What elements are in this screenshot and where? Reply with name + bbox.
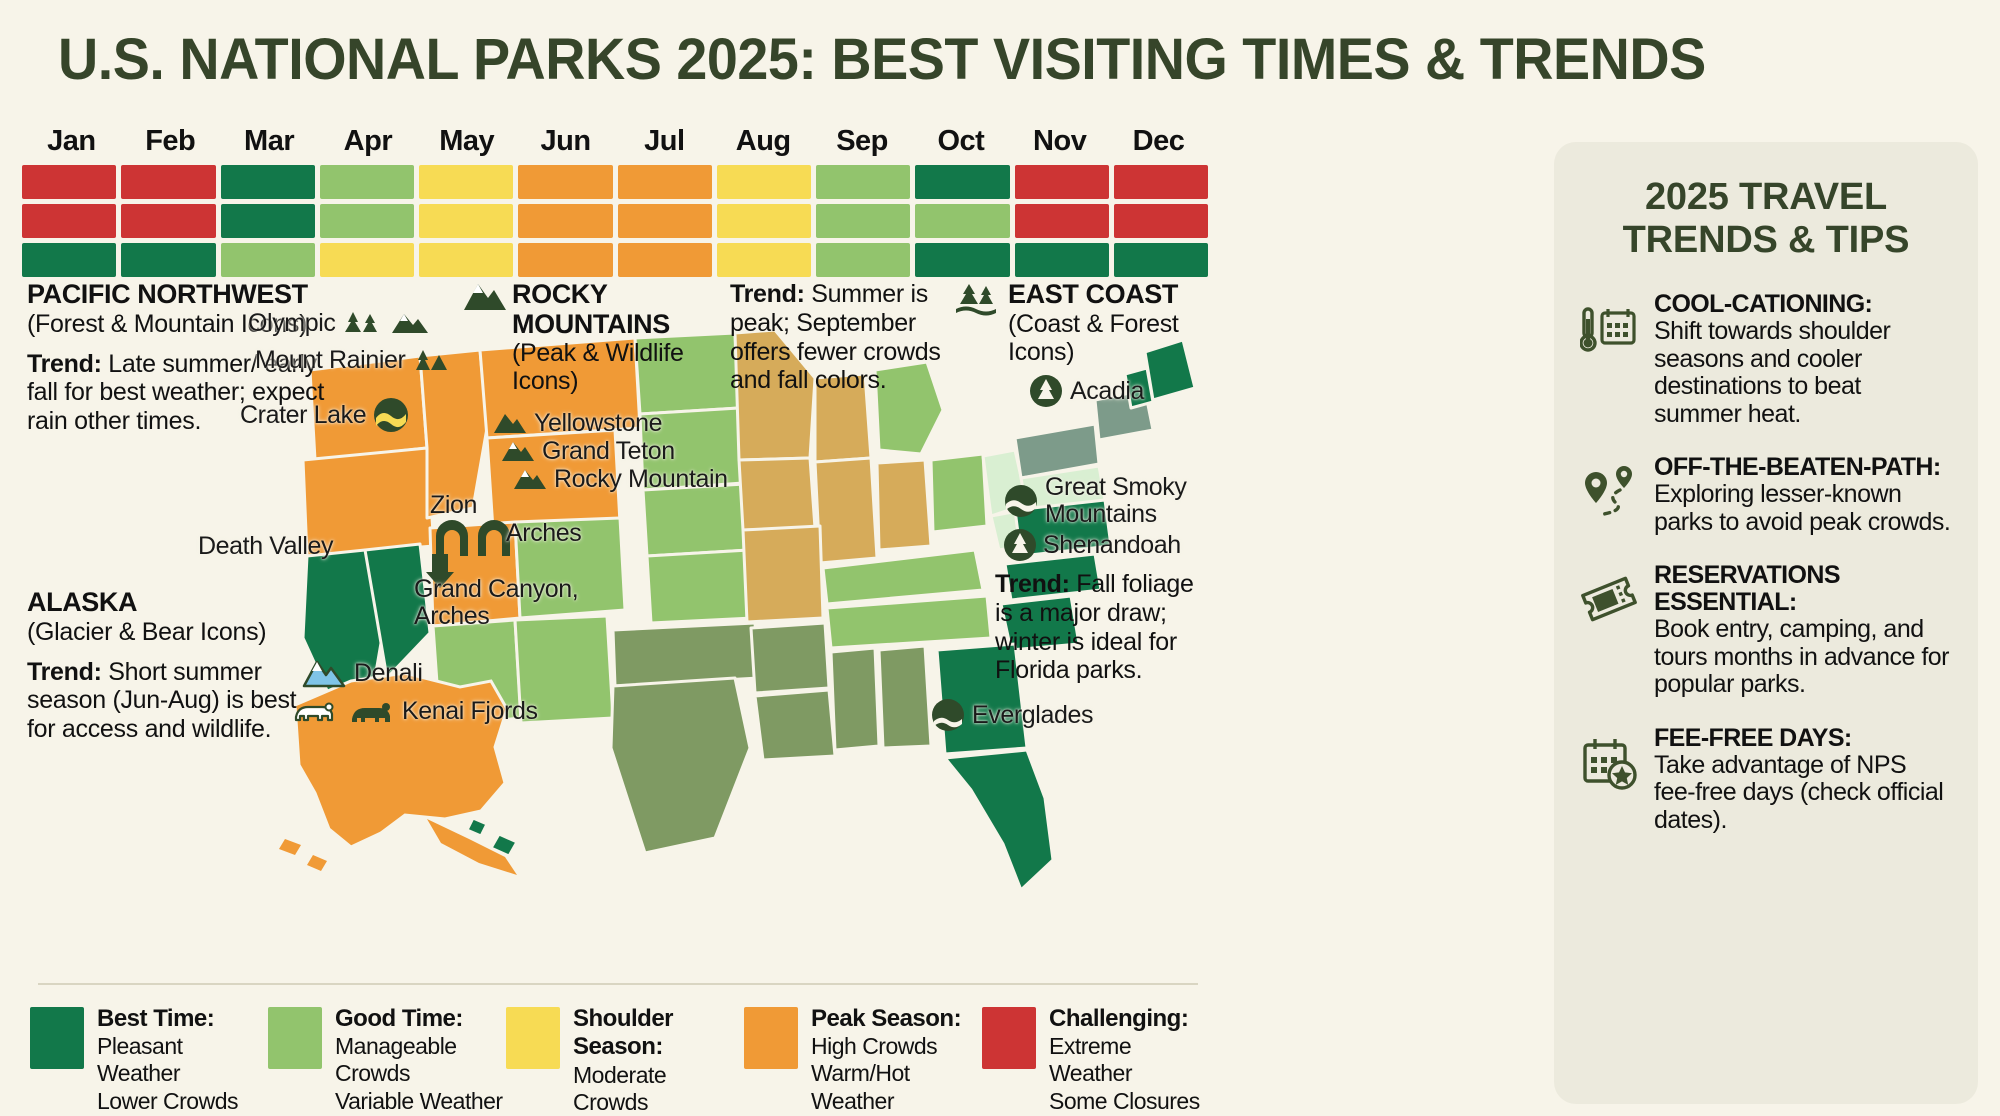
heatmap-cell-jul-1[interactable] [618,165,712,199]
heatmap-cell-sep-2[interactable] [816,204,910,238]
sidebar-tip-body: RESERVATIONS ESSENTIAL:Book entry, campi… [1654,562,1952,699]
region-icons-note: (Coast & Forest Icons) [1008,310,1218,366]
mountain-icon [389,306,431,340]
heatmap-row-1 [22,165,1208,199]
region-alaska: ALASKA (Glacier & Bear Icons) Trend: Sho… [27,588,297,744]
trends-sidebar: 2025 TRAVEL TRENDS & TIPS COOL-CATIONING… [1554,142,1978,1104]
state-texas [611,678,750,853]
legend-line: Warm/Hot Weather [811,1060,982,1114]
mountain-peak-icon [462,276,508,314]
park-label-rocky-mountain: Rocky Mountain [512,464,728,494]
park-name: Zion [430,492,477,519]
park-name: Crater Lake [240,402,366,429]
heatmap-cell-nov-1[interactable] [1015,165,1109,199]
legend-items: Best Time:Pleasant WeatherLower CrowdsGo… [30,1005,1220,1116]
park-name: Shenandoah [1043,532,1181,559]
heatmap-cell-feb-2[interactable] [121,204,215,238]
heatmap-cell-jan-1[interactable] [22,165,116,199]
region-title: ROCKY MOUNTAINS [512,280,727,339]
park-label-mount-rainier: Mount Rainier [255,343,451,377]
region-title: ALASKA [27,588,297,618]
sidebar-tip: COOL-CATIONING:Shift towards shoulder se… [1580,291,1952,428]
legend-line: Variable Weather [335,1088,506,1115]
region-rocky-trend: Trend: Summer is peak; September offers … [730,280,960,395]
park-name: Acadia [1070,378,1144,405]
sidebar-tip: RESERVATIONS ESSENTIAL:Book entry, campi… [1580,562,1952,699]
smoky-mountain-icon [1003,484,1039,518]
legend-text: Good Time:Manageable CrowdsVariable Weat… [335,1005,506,1115]
sidebar-tip-heading: RESERVATIONS ESSENTIAL: [1654,562,1952,616]
thermometer-calendar-icon [1580,299,1638,357]
sidebar-tip-description: Book entry, camping, and tours months in… [1654,616,1952,699]
heatmap-cell-aug-1[interactable] [717,165,811,199]
legend-line: Some Closures [1049,1088,1220,1115]
park-label-arches: Arches [506,520,581,547]
legend-text: Challenging:Extreme WeatherSome Closures… [1049,1005,1220,1116]
legend: Best Time:Pleasant WeatherLower CrowdsGo… [30,1005,1220,1105]
heatmap-cell-jun-2[interactable] [518,204,612,238]
trend-label: Trend: [995,570,1070,598]
map-pin-route-icon [1580,462,1638,520]
legend-text: Shoulder Season:Moderate CrowdsTransitti… [573,1005,744,1116]
legend-item: Good Time:Manageable CrowdsVariable Weat… [268,1005,506,1116]
legend-swatch [744,1007,798,1069]
legend-item: Challenging:Extreme WeatherSome Closures… [982,1005,1220,1116]
park-label-shenandoah: Shenandoah [1003,528,1181,562]
park-name: Kenai Fjords [402,698,538,725]
park-label-kenai-fjords: Kenai Fjords [290,693,538,729]
heatmap-cell-may-2[interactable] [419,204,513,238]
month-label-may: May [417,125,516,165]
legend-line: Pleasant Weather [97,1033,268,1087]
park-name: Death Valley [198,533,333,560]
park-label-denali: Denali [300,653,422,693]
park-name: Grand Teton [542,438,675,465]
state-illinois [815,458,877,563]
region-title: EAST COAST [1008,280,1218,310]
park-label-grand-canyon: Grand Canyon, Arches [414,576,594,630]
heatmap-cell-oct-2[interactable] [915,204,1009,238]
sidebar-title: 2025 TRAVEL TRENDS & TIPS [1580,176,1952,261]
region-east-coast: EAST COAST (Coast & Forest Icons) [1008,280,1218,366]
heatmap-cell-dec-1[interactable] [1114,165,1208,199]
region-trend: Trend: Fall foliage is a major draw; win… [995,570,1210,685]
park-label-grand-teton: Grand Teton [500,436,675,466]
coast-forest-icon [952,276,1000,316]
map-area: PACIFIC NORTHWEST (Forest & Mountain Ico… [0,268,1230,988]
trend-label: Trend: [27,350,102,378]
park-label-everglades: Everglades [930,698,1093,732]
legend-swatch [982,1007,1036,1069]
legend-heading: Challenging: [1049,1005,1220,1033]
legend-heading: Best Time: [97,1005,268,1033]
state-kansas [647,550,753,623]
month-label-jul: Jul [615,125,714,165]
month-label-jan: Jan [22,125,121,165]
heatmap-row-2 [22,204,1208,238]
legend-heading: Peak Season: [811,1005,982,1033]
peak-icon [512,464,548,494]
state-alabama [879,646,931,748]
region-trend: Trend: Short summer season (Jun-Aug) is … [27,658,297,744]
heatmap-cell-apr-2[interactable] [320,204,414,238]
park-label-crater-lake: Crater Lake [240,396,410,434]
legend-text: Best Time:Pleasant WeatherLower Crowds [97,1005,268,1115]
glacier-icon [300,653,348,693]
forest-mountain-icon [411,343,451,377]
month-label-nov: Nov [1010,125,1109,165]
state-nebraska [643,484,749,556]
trend-label: Trend: [730,280,805,308]
tree-circle-icon [1003,528,1037,562]
heatmap-cell-may-1[interactable] [419,165,513,199]
state-florida [945,750,1053,890]
sidebar-title-line1: 2025 TRAVEL [1580,176,1952,219]
region-icons-note: (Peak & Wildlife Icons) [512,339,727,395]
sidebar-tip-description: Shift towards shoulder seasons and coole… [1654,318,1952,428]
month-label-jun: Jun [516,125,615,165]
heatmap-cell-feb-1[interactable] [121,165,215,199]
legend-item: Peak Season:High CrowdsWarm/Hot Weather [744,1005,982,1116]
region-rocky-mountains: ROCKY MOUNTAINS (Peak & Wildlife Icons) [512,280,727,395]
tree-circle-icon [1028,374,1064,408]
sidebar-tip: FEE-FREE DAYS:Take advantage of NPS fee-… [1580,725,1952,835]
heatmap-cell-aug-2[interactable] [717,204,811,238]
forest-icon [341,306,383,340]
sidebar-tip: OFF-THE-BEATEN-PATH:Exploring lesser-kno… [1580,454,1952,536]
legend-item: Best Time:Pleasant WeatherLower Crowds [30,1005,268,1116]
legend-swatch [30,1007,84,1069]
park-name: Olympic [248,310,335,337]
legend-line: Lower Crowds [97,1088,268,1115]
legend-line: Manageable Crowds [335,1033,506,1087]
peak-icon [500,436,536,466]
park-name: Yellowstone [534,410,662,437]
heatmap-cell-mar-2[interactable] [221,204,315,238]
ticket-icon [1580,570,1638,628]
state-louisiana [755,690,835,760]
legend-line: Extreme Weather [1049,1033,1220,1087]
sidebar-tip-description: Take advantage of NPS fee-free days (che… [1654,752,1952,835]
month-label-row: JanFebMarAprMayJunJulAugSepOctNovDec [22,125,1208,165]
state-ohio [931,454,987,532]
legend-divider [38,983,1198,985]
park-label-acadia: Acadia [1028,374,1144,408]
month-label-apr: Apr [318,125,417,165]
sidebar-title-line2: TRENDS & TIPS [1580,219,1952,262]
park-name: Rocky Mountain [554,466,728,493]
legend-item: Shoulder Season:Moderate CrowdsTransitti… [506,1005,744,1116]
month-label-aug: Aug [714,125,813,165]
park-label-yellowstone: Yellowstone [492,408,662,438]
legend-text: Peak Season:High CrowdsWarm/Hot Weather [811,1005,982,1115]
heatmap-cell-jan-2[interactable] [22,204,116,238]
state-iowa [739,458,815,530]
park-label-death-valley: Death Valley [198,533,333,560]
park-name: Mount Rainier [255,347,405,374]
park-label-great-smoky: Great Smoky Mountains [1003,474,1208,528]
heatmap-cell-jun-1[interactable] [518,165,612,199]
heatmap-cell-jul-2[interactable] [618,204,712,238]
heatmap-grid [22,165,1208,277]
region-icons-note: (Glacier & Bear Icons) [27,618,297,646]
region-east-trend: Trend: Fall foliage is a major draw; win… [995,570,1210,685]
state-missouri [743,526,823,622]
park-label-zion: Zion [430,492,477,519]
month-label-oct: Oct [911,125,1010,165]
park-name: Great Smoky Mountains [1045,474,1208,528]
legend-line: High Crowds [811,1033,982,1060]
state-oklahoma [613,623,759,686]
peak-icon [492,408,528,438]
polar-bear-icon [290,693,340,729]
calendar-star-icon [1580,733,1638,791]
month-label-mar: Mar [220,125,319,165]
sidebar-tip-heading: OFF-THE-BEATEN-PATH: [1654,454,1952,481]
infographic-root: U.S. NATIONAL PARKS 2025: BEST VISITING … [0,0,2000,1116]
state-indiana [877,460,931,550]
crater-lake-icon [372,396,410,434]
page-title: U.S. NATIONAL PARKS 2025: BEST VISITING … [58,26,1652,93]
sidebar-tips-list: COOL-CATIONING:Shift towards shoulder se… [1580,291,1952,834]
legend-heading: Good Time: [335,1005,506,1033]
heatmap-cell-dec-2[interactable] [1114,204,1208,238]
sidebar-tip-body: FEE-FREE DAYS:Take advantage of NPS fee-… [1654,725,1952,835]
park-name: Grand Canyon, Arches [414,576,594,630]
month-label-sep: Sep [813,125,912,165]
sidebar-tip-heading: COOL-CATIONING: [1654,291,1952,318]
heatmap-cell-apr-1[interactable] [320,165,414,199]
heatmap-cell-mar-1[interactable] [221,165,315,199]
sidebar-tip-description: Exploring lesser-known parks to avoid pe… [1654,481,1952,536]
month-label-feb: Feb [121,125,220,165]
state-tennessee [827,596,991,648]
bear-icon [346,693,396,729]
legend-swatch [506,1007,560,1069]
heatmap-cell-oct-1[interactable] [915,165,1009,199]
legend-heading: Shoulder Season: [573,1005,744,1062]
legend-line: Moderate Crowds [573,1062,744,1116]
park-name: Everglades [972,702,1093,729]
trend-label: Trend: [27,658,102,686]
state-mississippi [831,648,879,750]
park-label-olympic: Olympic [248,306,431,340]
sidebar-tip-body: COOL-CATIONING:Shift towards shoulder se… [1654,291,1952,428]
state-arkansas [751,623,829,693]
sidebar-tip-heading: FEE-FREE DAYS: [1654,725,1952,752]
legend-swatch [268,1007,322,1069]
heatmap-cell-nov-2[interactable] [1015,204,1109,238]
sidebar-tip-body: OFF-THE-BEATEN-PATH:Exploring lesser-kno… [1654,454,1952,536]
park-name: Arches [506,520,581,547]
month-heatmap: JanFebMarAprMayJunJulAugSepOctNovDec [22,125,1208,277]
everglades-icon [930,698,966,732]
park-name: Denali [354,660,422,687]
region-trend: Trend: Summer is peak; September offers … [730,280,960,395]
heatmap-cell-sep-1[interactable] [816,165,910,199]
month-label-dec: Dec [1109,125,1208,165]
